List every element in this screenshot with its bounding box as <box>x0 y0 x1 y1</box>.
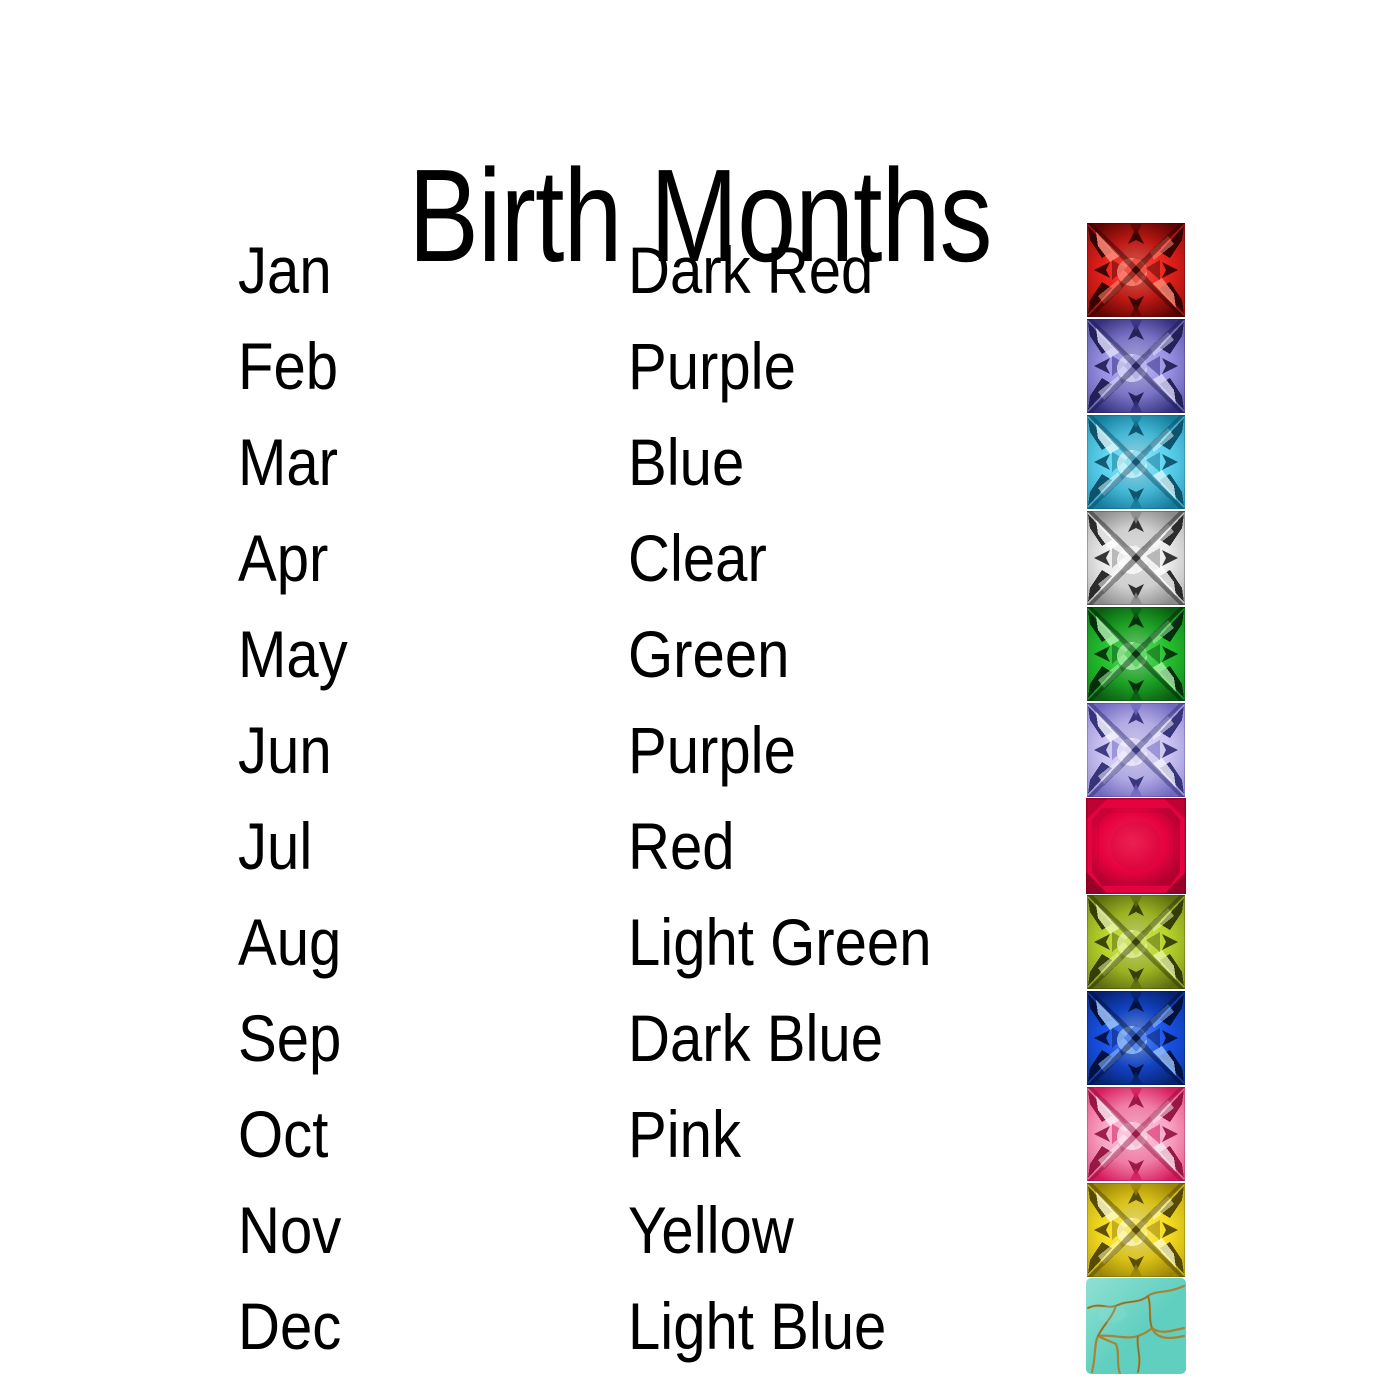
color-label: Dark Red <box>628 222 873 318</box>
month-label: Feb <box>238 318 338 414</box>
diamond-gem <box>1086 510 1186 606</box>
month-label: Jul <box>238 798 312 894</box>
color-label: Yellow <box>628 1182 794 1278</box>
color-label: Blue <box>628 414 744 510</box>
tourmaline-gem <box>1086 1086 1186 1182</box>
birthstone-table: JanDark Red <box>0 222 1400 1374</box>
amethyst-gem <box>1086 318 1186 414</box>
table-row: NovYellow <box>0 1182 1400 1278</box>
table-row: JunPurple <box>0 702 1400 798</box>
garnet-gem <box>1086 222 1186 318</box>
color-label: Light Green <box>628 894 932 990</box>
table-row: SepDark Blue <box>0 990 1400 1086</box>
color-label: Light Blue <box>628 1278 886 1374</box>
table-row: MayGreen <box>0 606 1400 702</box>
emerald-gem <box>1086 606 1186 702</box>
color-label: Red <box>628 798 735 894</box>
table-row: JulRed <box>0 798 1400 894</box>
month-label: Apr <box>238 510 328 606</box>
month-label: Jan <box>238 222 332 318</box>
month-label: May <box>238 606 348 702</box>
page-root: Birth Months JanDark Red <box>0 0 1400 1400</box>
table-row: OctPink <box>0 1086 1400 1182</box>
color-label: Clear <box>628 510 767 606</box>
alexandrite-gem <box>1086 702 1186 798</box>
turquoise-gem <box>1086 1278 1186 1374</box>
table-row: FebPurple <box>0 318 1400 414</box>
month-label: Oct <box>238 1086 328 1182</box>
color-label: Dark Blue <box>628 990 883 1086</box>
month-label: Sep <box>238 990 341 1086</box>
table-row: DecLight Blue <box>0 1278 1400 1374</box>
color-label: Green <box>628 606 789 702</box>
ruby-gem <box>1086 798 1186 894</box>
citrine-gem <box>1086 1182 1186 1278</box>
table-row: AprClear <box>0 510 1400 606</box>
month-label: Aug <box>238 894 341 990</box>
month-label: Dec <box>238 1278 341 1374</box>
table-row: MarBlue <box>0 414 1400 510</box>
month-label: Jun <box>238 702 332 798</box>
month-label: Mar <box>238 414 338 510</box>
table-row: AugLight Green <box>0 894 1400 990</box>
peridot-gem <box>1086 894 1186 990</box>
month-label: Nov <box>238 1182 341 1278</box>
aquamarine-gem <box>1086 414 1186 510</box>
color-label: Purple <box>628 702 796 798</box>
color-label: Pink <box>628 1086 741 1182</box>
sapphire-gem <box>1086 990 1186 1086</box>
color-label: Purple <box>628 318 796 414</box>
table-row: JanDark Red <box>0 222 1400 318</box>
